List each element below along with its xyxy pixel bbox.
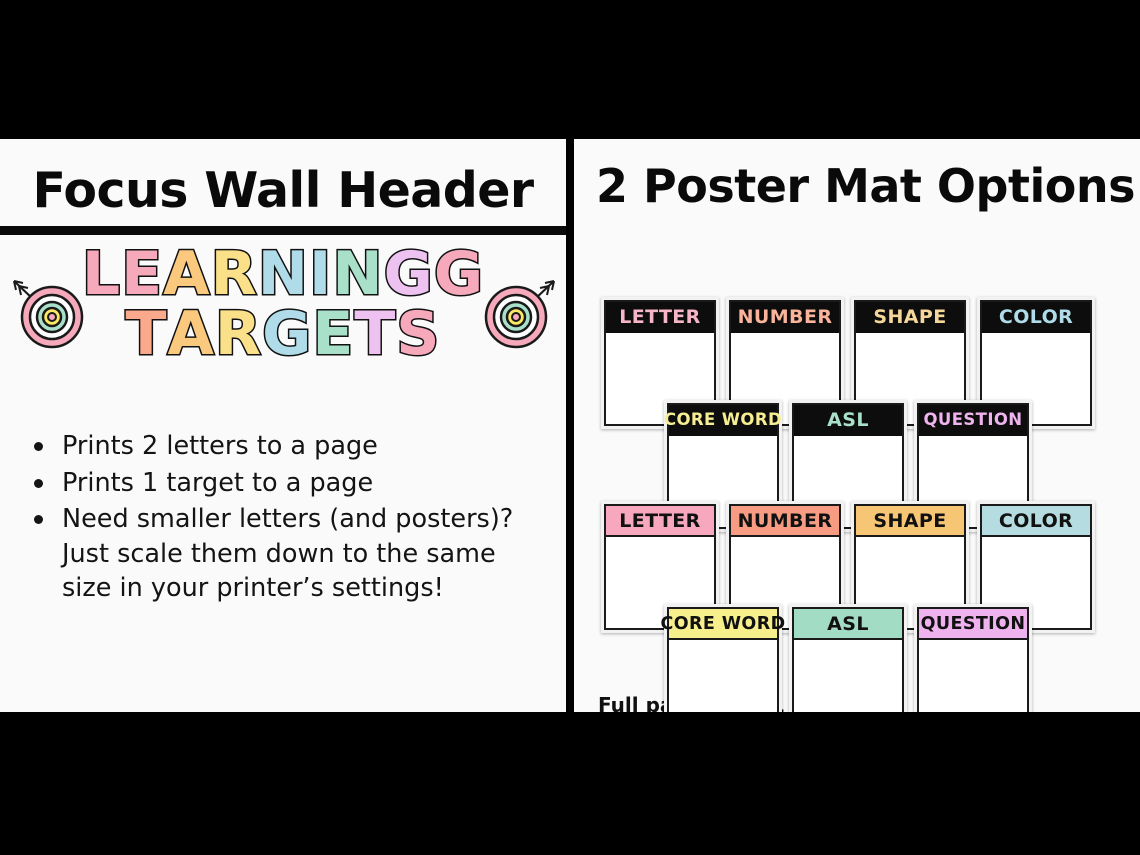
wordmark-letter: N	[258, 247, 309, 302]
poster-header-label: NUMBER	[731, 302, 839, 333]
poster-header-label: SHAPE	[856, 302, 964, 333]
poster-blank-area	[794, 640, 902, 712]
wordmark-letter: E	[312, 307, 354, 362]
poster-header-label: LETTER	[606, 506, 714, 537]
poster-frame: ASL	[792, 607, 904, 712]
poster-mat[interactable]: CORE WORD	[664, 604, 782, 712]
wordmark-letter: S	[396, 307, 440, 362]
learning-targets-artwork: LEARNINGG TARGETS	[0, 247, 566, 415]
wordmark-letter: L	[82, 247, 121, 302]
wordmark-letter: R	[215, 307, 262, 362]
poster-mat[interactable]: QUESTION	[914, 604, 1032, 712]
wordmark-letter: G	[384, 247, 434, 302]
wordmark-letter: G	[262, 307, 312, 362]
poster-header-label: QUESTION	[919, 609, 1027, 640]
poster-header-label: ASL	[794, 609, 902, 640]
feature-bullet-list: Prints 2 letters to a page Prints 1 targ…	[30, 429, 566, 605]
wordmark-letter: A	[167, 307, 214, 362]
list-item: Need smaller letters (and posters)? Just…	[30, 502, 530, 605]
wordmark-letter: E	[121, 247, 163, 302]
wordmark-line-learning: LEARNINGG	[66, 247, 500, 302]
poster-grid: LETTERNUMBERSHAPECOLORCORE WORDASLQUESTI…	[574, 221, 1140, 691]
poster-header-label: ASL	[794, 405, 902, 436]
list-item: Prints 1 target to a page	[30, 466, 530, 500]
wordmark-letter: R	[211, 247, 258, 302]
title-divider	[0, 226, 566, 235]
learning-targets-wordmark: LEARNINGG TARGETS	[66, 247, 500, 361]
poster-header-label: COLOR	[982, 302, 1090, 333]
wordmark-letter: G	[434, 247, 484, 302]
list-item: Prints 2 letters to a page	[30, 429, 530, 463]
poster-mat[interactable]: ASL	[789, 604, 907, 712]
wordmark-letter: I	[309, 247, 332, 302]
poster-header-label: SHAPE	[856, 506, 964, 537]
poster-header-label: COLOR	[982, 506, 1090, 537]
poster-blank-area	[919, 640, 1027, 712]
wordmark-letter: T	[354, 307, 396, 362]
poster-frame: QUESTION	[917, 607, 1029, 712]
poster-header-label: LETTER	[606, 302, 714, 333]
poster-frame: CORE WORD	[667, 607, 779, 712]
wordmark-letter: N	[332, 247, 383, 302]
wordmark-line-targets: TARGETS	[66, 307, 500, 362]
wordmark-letter: A	[163, 247, 210, 302]
page-title: Focus Wall Header	[0, 139, 566, 216]
poster-mat-options-panel: 2 Poster Mat Options LETTERNUMBERSHAPECO…	[574, 139, 1140, 712]
wordmark-letter: T	[126, 307, 168, 362]
poster-header-label: CORE WORD	[669, 405, 777, 436]
focus-wall-header-panel: Focus Wall Header	[0, 139, 566, 712]
poster-blank-area	[669, 640, 777, 712]
section-title: 2 Poster Mat Options	[574, 139, 1140, 213]
poster-header-label: CORE WORD	[669, 609, 777, 640]
poster-header-label: QUESTION	[919, 405, 1027, 436]
screenshot-stage: Focus Wall Header	[0, 0, 1140, 855]
poster-header-label: NUMBER	[731, 506, 839, 537]
